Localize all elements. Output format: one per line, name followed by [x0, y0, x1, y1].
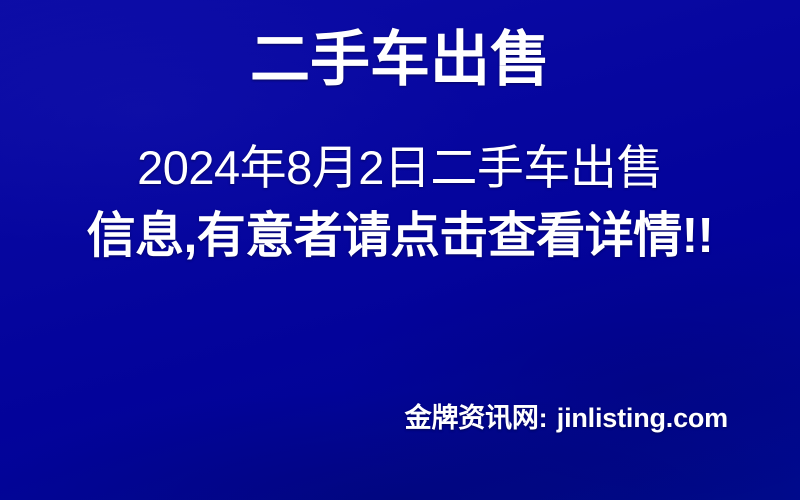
footer-site-credit: 金牌资讯网: jinlisting.com — [405, 400, 728, 436]
poster-canvas: 二手车出售 2024年8月2日二手车出售 信息,有意者请点击查看详情!! 金牌资… — [0, 0, 800, 500]
footer-site-url[interactable]: jinlisting.com — [555, 403, 728, 433]
poster-body-line-2: 信息,有意者请点击查看详情!! — [0, 202, 800, 270]
poster-body-block: 2024年8月2日二手车出售 信息,有意者请点击查看详情!! — [0, 134, 800, 270]
poster-headline: 二手车出售 — [0, 26, 800, 94]
poster-body-line-1: 2024年8月2日二手车出售 — [0, 134, 800, 202]
footer-site-name: 金牌资讯网: — [405, 403, 548, 433]
